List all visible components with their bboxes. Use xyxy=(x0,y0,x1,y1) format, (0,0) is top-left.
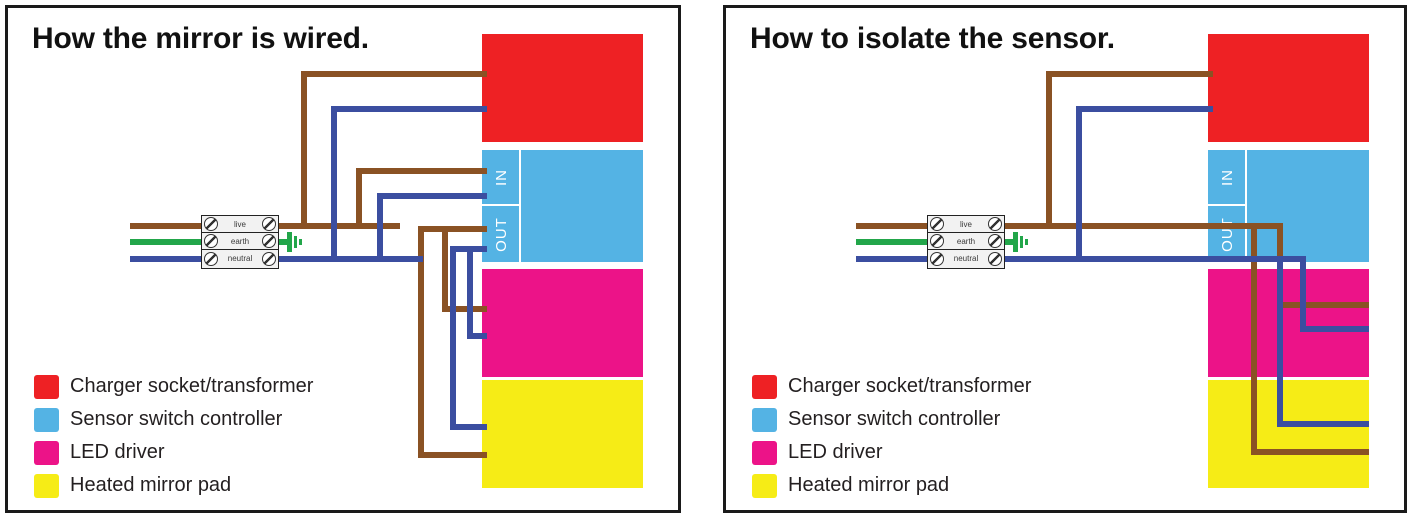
legend-label-led-right: LED driver xyxy=(788,441,882,464)
wire-live-pad-run-left xyxy=(418,452,487,458)
sensor-port-out-right: OUT xyxy=(1208,206,1247,262)
wire-live-pad-run-right xyxy=(1251,449,1369,455)
legend-item-charger-left: Charger socket/transformer xyxy=(34,370,313,403)
legend-swatch-led-right xyxy=(752,441,777,465)
sensor-port-in-left: IN xyxy=(482,150,521,206)
panel-title-right: How to isolate the sensor. xyxy=(750,22,1115,56)
earth-ground-icon-left xyxy=(287,232,303,252)
sensor-port-in-right: IN xyxy=(1208,150,1247,206)
terminal-row-earth-right: earth xyxy=(928,233,1004,250)
legend-item-sensor-left: Sensor switch controller xyxy=(34,403,313,436)
terminal-label-neutral-left: neutral xyxy=(218,254,262,263)
block-charger-socket-transformer-right xyxy=(1208,34,1369,142)
terminal-row-live-left: live xyxy=(202,216,278,233)
panel-how-mirror-is-wired: How the mirror is wired. IN OUT xyxy=(5,5,681,513)
legend-swatch-sensor-left xyxy=(34,408,59,432)
wire-neutral-pad-run-left xyxy=(450,424,487,430)
wire-supply-live-left xyxy=(130,223,205,229)
legend-swatch-pad-right xyxy=(752,474,777,498)
legend-label-sensor-right: Sensor switch controller xyxy=(788,408,1000,431)
legend-label-pad-left: Heated mirror pad xyxy=(70,474,231,497)
legend-label-led-left: LED driver xyxy=(70,441,164,464)
legend-label-charger-right: Charger socket/transformer xyxy=(788,375,1031,398)
wire-neutral-pad-riser-left xyxy=(450,246,456,430)
screw-icon xyxy=(262,234,276,248)
wire-supply-neutral-left xyxy=(130,256,205,262)
panel-title-left: How the mirror is wired. xyxy=(32,22,369,56)
sensor-port-in-label-right: IN xyxy=(1219,169,1236,186)
wire-live-riser-charger-left xyxy=(301,71,307,229)
legend-swatch-charger-left xyxy=(34,375,59,399)
wire-neutral-riser-sensor-in-left xyxy=(377,193,383,262)
screw-icon xyxy=(988,217,1002,231)
legend-right: Charger socket/transformer Sensor switch… xyxy=(752,370,1031,502)
screw-icon xyxy=(988,252,1002,266)
wire-live-run-charger-left xyxy=(301,71,487,77)
legend-label-charger-left: Charger socket/transformer xyxy=(70,375,313,398)
sensor-port-in-label-left: IN xyxy=(493,169,510,186)
sensor-port-out-left: OUT xyxy=(482,206,521,262)
screw-icon xyxy=(204,234,218,248)
screw-icon xyxy=(262,217,276,231)
wire-live-run-charger-right xyxy=(1046,71,1213,77)
screw-icon xyxy=(262,252,276,266)
screw-icon xyxy=(204,252,218,266)
wire-supply-neutral-right xyxy=(856,256,931,262)
legend-item-pad-right: Heated mirror pad xyxy=(752,469,1031,502)
terminal-row-neutral-left: neutral xyxy=(202,250,278,267)
legend-swatch-pad-left xyxy=(34,474,59,498)
wire-neutral-riser-charger-left xyxy=(331,106,337,262)
wire-supply-earth-right xyxy=(856,239,931,245)
terminal-row-live-right: live xyxy=(928,216,1004,233)
terminal-row-neutral-right: neutral xyxy=(928,250,1004,267)
terminal-label-live-right: live xyxy=(944,220,988,229)
wire-supply-earth-left xyxy=(130,239,205,245)
legend-swatch-sensor-right xyxy=(752,408,777,432)
block-led-driver-left xyxy=(482,269,643,377)
screw-icon xyxy=(930,252,944,266)
legend-label-pad-right: Heated mirror pad xyxy=(788,474,949,497)
wire-neutral-pad-run-right xyxy=(1277,421,1369,427)
wire-neutral-trunk-left xyxy=(270,256,423,262)
wire-live-sensorout-riser-led-left xyxy=(442,226,448,312)
legend-left: Charger socket/transformer Sensor switch… xyxy=(34,370,313,502)
wire-live-sensorout-run-left xyxy=(418,226,487,232)
screw-icon xyxy=(930,234,944,248)
panel-how-to-isolate-sensor: How to isolate the sensor. IN OUT xyxy=(723,5,1407,513)
wire-live-led-run-left xyxy=(442,306,487,312)
legend-item-charger-right: Charger socket/transformer xyxy=(752,370,1031,403)
terminal-label-live-left: live xyxy=(218,220,262,229)
legend-swatch-charger-right xyxy=(752,375,777,399)
wire-neutral-riser-charger-right xyxy=(1076,106,1082,262)
wire-live-run-sensor-in-left xyxy=(356,168,487,174)
terminal-row-earth-left: earth xyxy=(202,233,278,250)
sensor-port-out-label-left: OUT xyxy=(493,217,510,252)
terminal-block-right: live earth neutral xyxy=(927,215,1005,269)
wire-neutral-run-charger-left xyxy=(331,106,487,112)
wire-neutral-bypass-riser-led-right xyxy=(1300,256,1306,332)
terminal-label-earth-right: earth xyxy=(944,237,988,246)
block-sensor-switch-controller-right: IN OUT xyxy=(1208,150,1369,262)
sensor-port-out-label-right: OUT xyxy=(1219,217,1236,252)
block-led-driver-right xyxy=(1208,269,1369,377)
legend-swatch-led-left xyxy=(34,441,59,465)
terminal-label-neutral-right: neutral xyxy=(944,254,988,263)
block-sensor-switch-controller-left: IN OUT xyxy=(482,150,643,262)
wire-live-trunk-right xyxy=(996,223,1283,229)
screw-icon xyxy=(204,217,218,231)
block-charger-socket-transformer-left xyxy=(482,34,643,142)
block-heated-mirror-pad-left xyxy=(482,380,643,488)
screw-icon xyxy=(930,217,944,231)
wire-neutral-led-run-left xyxy=(467,333,487,339)
wire-neutral-bypass-run-led-right xyxy=(1300,326,1369,332)
wire-live-bypass-run-led-right xyxy=(1277,302,1369,308)
screw-icon xyxy=(988,234,1002,248)
terminal-block-left: live earth neutral xyxy=(201,215,279,269)
earth-ground-icon-right xyxy=(1013,232,1029,252)
legend-item-led-left: LED driver xyxy=(34,436,313,469)
wire-neutral-run-charger-right xyxy=(1076,106,1213,112)
legend-item-pad-left: Heated mirror pad xyxy=(34,469,313,502)
legend-item-sensor-right: Sensor switch controller xyxy=(752,403,1031,436)
wiring-diagram-figure: How the mirror is wired. IN OUT xyxy=(0,0,1412,519)
wire-neutral-sensorout-riser-led-left xyxy=(467,246,473,339)
block-heated-mirror-pad-right xyxy=(1208,380,1369,488)
wire-live-riser-charger-right xyxy=(1046,71,1052,229)
wire-live-riser-sensor-in-left xyxy=(356,168,362,229)
wire-neutral-trunk-right xyxy=(996,256,1306,262)
wire-supply-live-right xyxy=(856,223,931,229)
legend-label-sensor-left: Sensor switch controller xyxy=(70,408,282,431)
wire-neutral-pad-riser-right xyxy=(1277,256,1283,427)
wire-neutral-run-sensor-in-left xyxy=(377,193,487,199)
legend-item-led-right: LED driver xyxy=(752,436,1031,469)
terminal-label-earth-left: earth xyxy=(218,237,262,246)
